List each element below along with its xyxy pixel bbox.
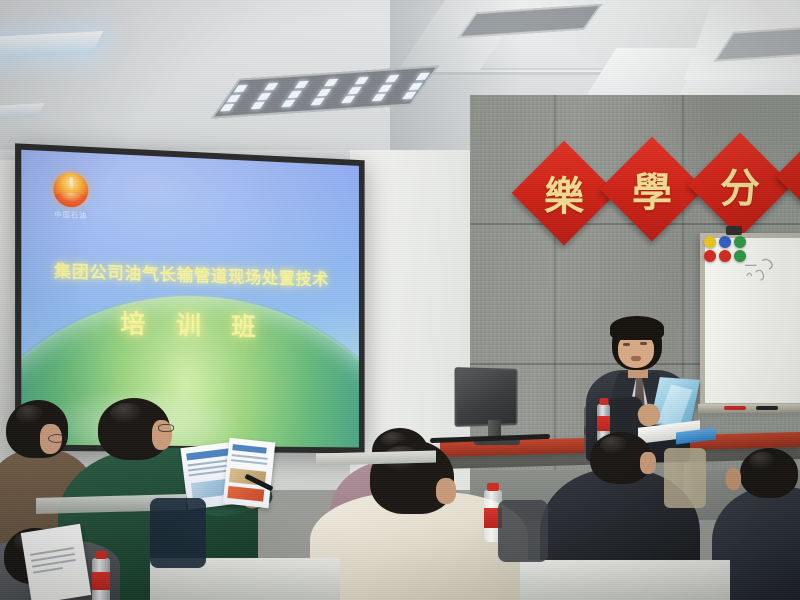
chair-center bbox=[498, 500, 548, 562]
chair-left bbox=[150, 498, 206, 568]
wall-banner-le: 樂 bbox=[512, 141, 617, 246]
marker-red-icon[interactable] bbox=[724, 406, 746, 410]
whiteboard-marker-tray bbox=[698, 404, 800, 413]
cnpc-sun-icon bbox=[53, 172, 88, 208]
photo-scene: 中国石油 集团公司油气长输管道现场处置技术 培 训 班 樂 學 分 享 bbox=[0, 0, 800, 600]
attendee-navy-head bbox=[740, 448, 798, 498]
wall-banner-le-char: 樂 bbox=[527, 156, 601, 230]
lcd-monitor[interactable] bbox=[455, 367, 518, 427]
magnet-red-icon bbox=[704, 250, 716, 262]
eyeglasses-icon bbox=[48, 434, 66, 443]
wall-banner-xue-char: 學 bbox=[615, 152, 689, 226]
wall-banner-fen: 分 bbox=[688, 133, 793, 238]
chair-presenter-side bbox=[664, 448, 706, 508]
whiteboard-magnets[interactable] bbox=[704, 236, 748, 262]
projection-screen: 中国石油 集团公司油气长输管道现场处置技术 培 训 班 bbox=[15, 143, 365, 453]
whiteboard-clip bbox=[726, 226, 742, 235]
eyeglasses-2-icon bbox=[158, 424, 174, 432]
attendee-navy-ear bbox=[726, 468, 741, 490]
projected-slide: 中国石油 集团公司油气长输管道现场处置技术 培 训 班 bbox=[21, 150, 359, 448]
magnet-green-2-icon bbox=[734, 250, 746, 262]
marker-black-icon[interactable] bbox=[756, 406, 778, 410]
magnet-red-2-icon bbox=[719, 250, 731, 262]
handout-papers-front bbox=[21, 524, 92, 600]
magnet-yellow-icon bbox=[704, 236, 716, 248]
whiteboard-handwriting-icon bbox=[743, 256, 800, 296]
attendee-dark-suit-ear bbox=[640, 452, 656, 474]
magnet-green-icon bbox=[734, 236, 746, 248]
attendee-cream-ear bbox=[436, 478, 456, 504]
magnet-blue-icon bbox=[719, 236, 731, 248]
presenter-hair bbox=[610, 316, 664, 340]
wall-banner-xue: 學 bbox=[600, 137, 705, 242]
attendee-desk-front-right bbox=[520, 560, 730, 600]
wall-banner-fen-char: 分 bbox=[703, 148, 777, 222]
water-bottle-front-left bbox=[92, 558, 110, 600]
cnpc-logo-caption: 中国石油 bbox=[48, 209, 93, 221]
brochure-right-page bbox=[223, 438, 276, 508]
cnpc-logo: 中国石油 bbox=[48, 171, 93, 221]
